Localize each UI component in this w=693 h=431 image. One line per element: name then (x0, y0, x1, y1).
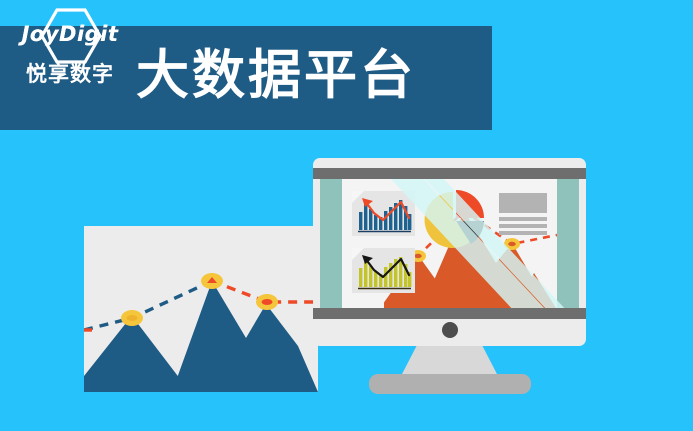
document-image-placeholder (499, 193, 547, 213)
document-line (499, 224, 547, 228)
banner-canvas: JoyDigit 悦享数字 大数据平台 (0, 0, 693, 431)
document-block[interactable] (499, 193, 547, 235)
logo-wordmark: JoyDigit (14, 24, 126, 45)
monitor-stand (401, 346, 498, 376)
yellow-bar-chart-card[interactable] (352, 248, 415, 293)
yellow-bar-chart-svg (352, 248, 415, 293)
dashboard-content (342, 179, 557, 308)
monitor (313, 158, 586, 346)
pie-chart[interactable] (424, 189, 486, 251)
screen-strip-right (557, 179, 579, 308)
page-title: 大数据平台 (136, 46, 416, 105)
brand-logo: JoyDigit 悦享数字 (14, 6, 126, 98)
blue-mountain-chart-svg (84, 226, 318, 392)
document-line (499, 231, 547, 235)
monitor-bezel-bottom (313, 308, 586, 319)
mountain-shape-blue-main (172, 281, 318, 392)
trend-line-blue (84, 281, 212, 330)
blue-bar-chart-card[interactable] (352, 191, 415, 236)
monitor-screen (320, 179, 579, 308)
logo-subtitle: 悦享数字 (14, 64, 126, 85)
blue-bar-chart-svg (352, 191, 415, 236)
monitor-bezel-top (313, 168, 586, 179)
blue-mountain-chart-panel (84, 226, 318, 392)
pie-slice-red (456, 190, 484, 218)
monitor-base (369, 374, 531, 394)
document-line (499, 217, 547, 221)
power-button-icon[interactable] (442, 322, 458, 338)
screen-strip-left (320, 179, 342, 308)
